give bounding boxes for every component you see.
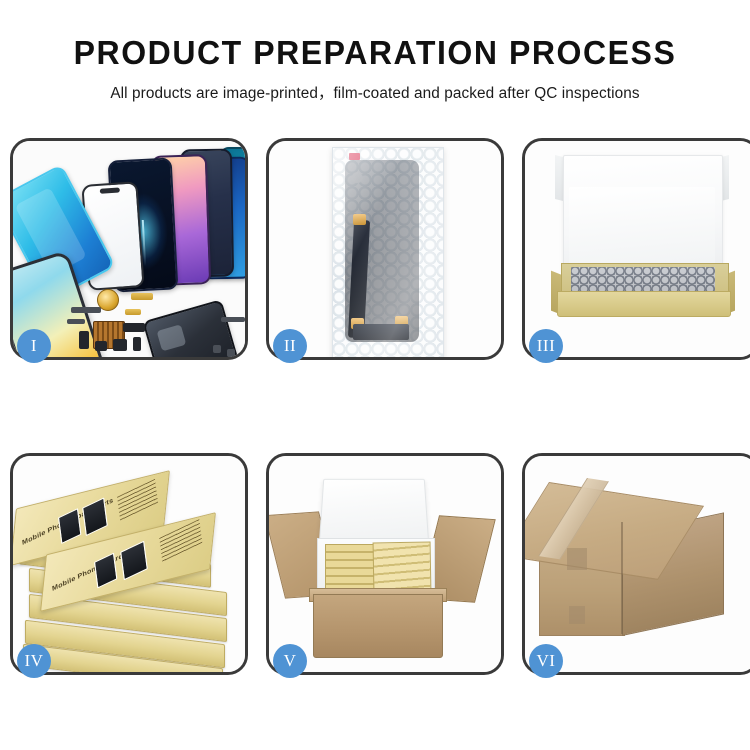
retail-boxes-inside-2 bbox=[373, 541, 432, 594]
step-badge-1: I bbox=[17, 329, 51, 363]
sealed-carton-flap-tab-1 bbox=[567, 548, 587, 570]
step-panel-2[interactable]: II bbox=[266, 138, 504, 360]
step-badge-2: II bbox=[273, 329, 307, 363]
retail-box-thumb-top-1 bbox=[58, 508, 81, 544]
part-strip-3 bbox=[221, 317, 245, 322]
part-screw-2 bbox=[227, 349, 235, 357]
bubble-wrapped-screen-in-box bbox=[571, 267, 715, 293]
part-dark-module-3 bbox=[95, 341, 107, 351]
part-connector-strip bbox=[71, 307, 101, 313]
kraft-box-front bbox=[557, 291, 731, 317]
part-dark-module-5 bbox=[133, 337, 141, 351]
part-screw-1 bbox=[213, 345, 221, 353]
page-header: PRODUCT PREPARATION PROCESS All products… bbox=[0, 0, 750, 103]
retail-box-thumb-top-2 bbox=[82, 497, 108, 536]
lcd-connector-1 bbox=[353, 214, 366, 225]
step-image-2 bbox=[269, 141, 501, 357]
step-image-6 bbox=[525, 456, 750, 672]
part-dark-module-4 bbox=[113, 339, 127, 351]
part-dark-module-2 bbox=[79, 331, 89, 349]
lcd-driver-ic bbox=[353, 324, 409, 340]
lcd-qc-sticker bbox=[349, 153, 360, 160]
step-image-3 bbox=[525, 141, 750, 357]
step-badge-6: VI bbox=[529, 644, 563, 678]
step-badge-5: V bbox=[273, 644, 307, 678]
step-image-4: Mobile Phone Spare Parts Mobile Phone Sp… bbox=[13, 456, 245, 672]
part-gold-flex-2 bbox=[125, 309, 141, 315]
bubble-wrap-bag bbox=[332, 147, 444, 357]
sealed-carton-flap-tab-2 bbox=[569, 606, 585, 624]
step-panel-1[interactable]: I bbox=[10, 138, 248, 360]
retail-box-thumb-second-1 bbox=[94, 553, 117, 589]
page-subtitle: All products are image-printed，film-coat… bbox=[4, 81, 747, 103]
part-dark-module-1 bbox=[123, 323, 145, 332]
step-panel-5[interactable]: V bbox=[266, 453, 504, 675]
step-image-5 bbox=[269, 456, 501, 672]
step-panel-4[interactable]: Mobile Phone Spare Parts Mobile Phone Sp… bbox=[10, 453, 248, 675]
sealed-carton-corner-seam bbox=[621, 522, 623, 634]
step-badge-3: III bbox=[529, 329, 563, 363]
step-badge-4: IV bbox=[17, 644, 51, 678]
page-title: PRODUCT PREPARATION PROCESS bbox=[11, 36, 739, 71]
retail-box-thumb-second-2 bbox=[120, 541, 148, 581]
process-steps-grid: I II bbox=[10, 138, 740, 675]
retail-box-spec-lines-top bbox=[117, 479, 158, 522]
part-gold-flex-1 bbox=[131, 293, 153, 300]
foam-sheet bbox=[569, 187, 715, 269]
step-panel-6[interactable]: VI bbox=[522, 453, 750, 675]
step-image-1 bbox=[13, 141, 245, 357]
retail-box-stack: Mobile Phone Spare Parts Mobile Phone Sp… bbox=[13, 456, 245, 672]
step-panel-3[interactable]: III bbox=[522, 138, 750, 360]
part-strip-2 bbox=[67, 319, 85, 324]
retail-box-spec-lines-second bbox=[159, 519, 202, 562]
carton-front bbox=[313, 594, 443, 658]
